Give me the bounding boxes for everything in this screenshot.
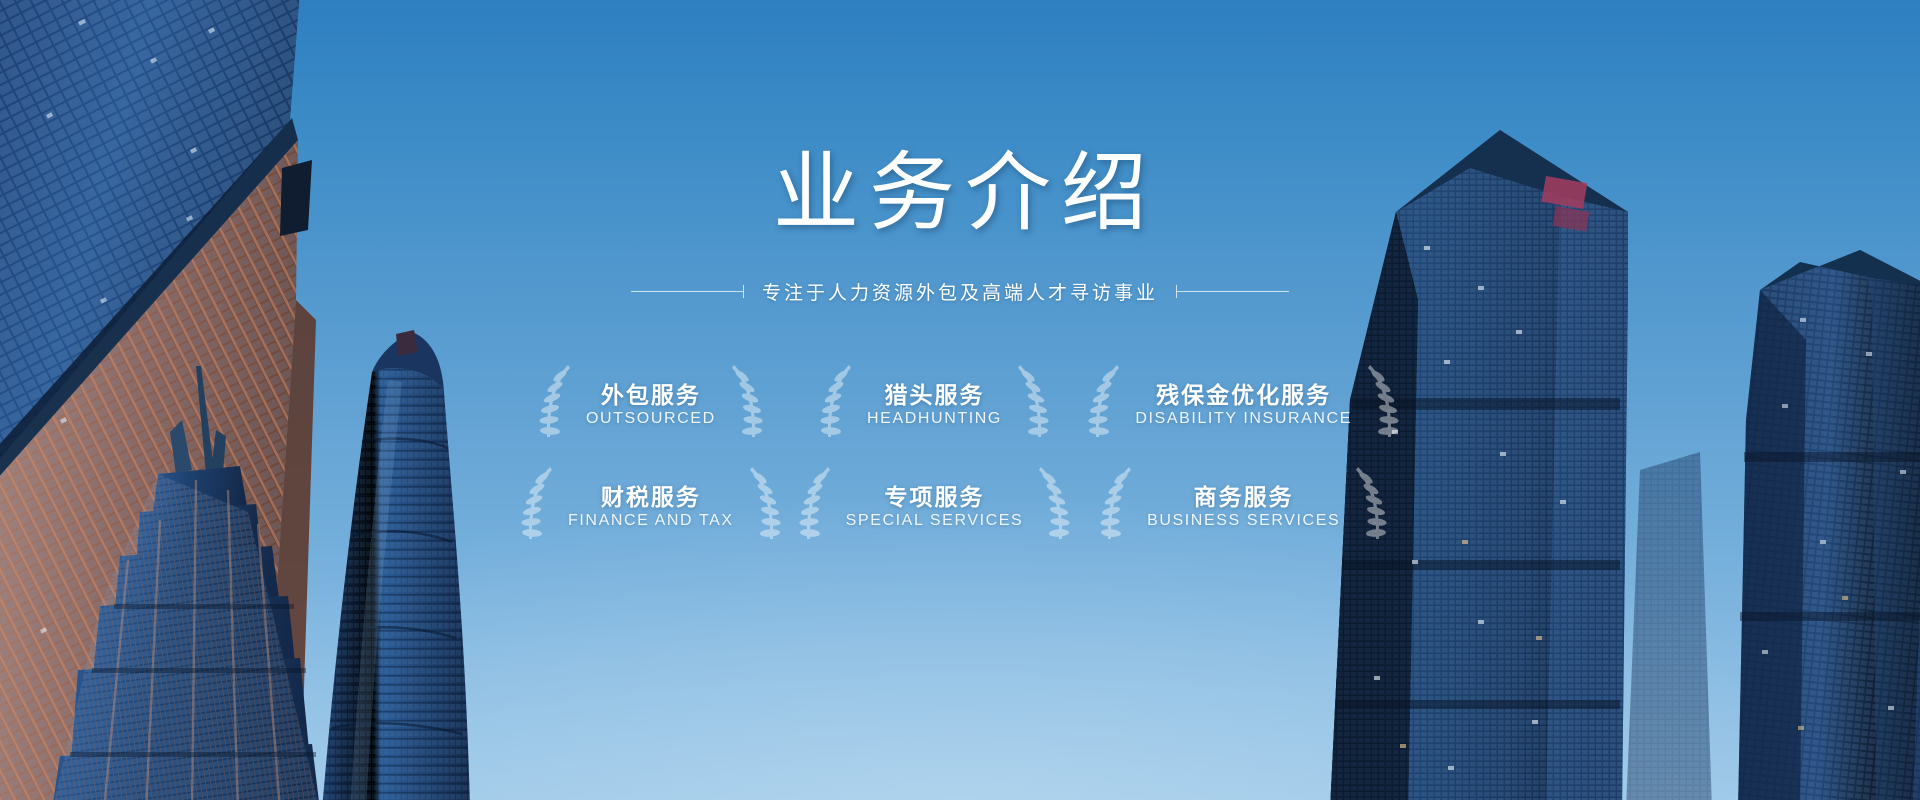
banner-content: 业务介绍 专注于人力资源外包及高端人才寻访事业: [0, 0, 1920, 800]
service-label-group: 残保金优化服务 DISABILITY INSURANCE: [1121, 376, 1366, 428]
laurel-branch-icon: [1099, 465, 1133, 543]
laurel-branch-icon: [798, 465, 832, 543]
service-label-group: 财税服务 FINANCE AND TAX: [554, 478, 748, 530]
service-name-en: OUTSOURCED: [586, 410, 716, 427]
business-intro-banner: 业务介绍 专注于人力资源外包及高端人才寻访事业: [0, 0, 1920, 800]
service-list: 外包服务 OUTSOURCED: [514, 363, 1406, 543]
laurel-branch-icon: [819, 363, 853, 441]
service-name-cn: 猎头服务: [885, 383, 985, 409]
service-label-group: 外包服务 OUTSOURCED: [572, 376, 730, 428]
service-name-en: DISABILITY INSURANCE: [1135, 410, 1352, 427]
service-name-en: HEADHUNTING: [867, 410, 1002, 427]
service-name-cn: 商务服务: [1194, 485, 1294, 511]
service-name-cn: 外包服务: [601, 383, 701, 409]
horizontal-rule-icon: [1176, 285, 1289, 298]
service-name-en: SPECIAL SERVICES: [846, 512, 1024, 529]
page-title: 业务介绍: [763, 150, 1157, 236]
service-name-cn: 残保金优化服务: [1156, 383, 1331, 409]
service-item-finance-and-tax[interactable]: 财税服务 FINANCE AND TAX: [514, 465, 788, 543]
service-item-outsourced[interactable]: 外包服务 OUTSOURCED: [514, 363, 788, 441]
service-label-group: 商务服务 BUSINESS SERVICES: [1133, 478, 1354, 530]
laurel-branch-icon: [520, 465, 554, 543]
service-item-special-services[interactable]: 专项服务 SPECIAL SERVICES: [792, 465, 1078, 543]
laurel-branch-icon: [1354, 465, 1388, 543]
service-label-group: 猎头服务 HEADHUNTING: [853, 376, 1016, 428]
service-name-cn: 专项服务: [885, 485, 985, 511]
horizontal-rule-icon: [631, 285, 744, 298]
laurel-branch-icon: [1366, 363, 1400, 441]
laurel-branch-icon: [1016, 363, 1050, 441]
laurel-branch-icon: [748, 465, 782, 543]
laurel-branch-icon: [1087, 363, 1121, 441]
subtitle-row: 专注于人力资源外包及高端人才寻访事业: [631, 278, 1289, 305]
page-subtitle: 专注于人力资源外包及高端人才寻访事业: [762, 278, 1158, 305]
laurel-branch-icon: [538, 363, 572, 441]
laurel-branch-icon: [730, 363, 764, 441]
service-item-headhunting[interactable]: 猎头服务 HEADHUNTING: [792, 363, 1078, 441]
service-label-group: 专项服务 SPECIAL SERVICES: [832, 478, 1038, 530]
service-item-disability-insurance[interactable]: 残保金优化服务 DISABILITY INSURANCE: [1081, 363, 1406, 441]
laurel-branch-icon: [1037, 465, 1071, 543]
service-item-business-services[interactable]: 商务服务 BUSINESS SERVICES: [1081, 465, 1406, 543]
service-name-cn: 财税服务: [601, 485, 701, 511]
service-name-en: FINANCE AND TAX: [568, 512, 734, 529]
service-name-en: BUSINESS SERVICES: [1147, 512, 1340, 529]
